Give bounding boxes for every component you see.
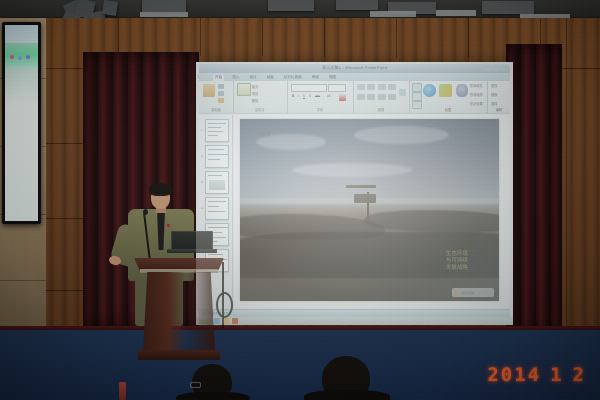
- powerpoint-window[interactable]: 演示文稿1 - Microsoft PowerPoint 开始 插入 设计 动画…: [196, 62, 513, 325]
- delete-label[interactable]: 删除: [252, 98, 258, 103]
- slide-title: 导言: [261, 132, 272, 139]
- ribbon-group-label: 编辑: [487, 108, 511, 113]
- thumbnail-line: [208, 149, 224, 150]
- ribbon-group-editing[interactable]: 查找 替换 选择 编辑: [487, 81, 511, 113]
- font-size-box[interactable]: [328, 84, 346, 92]
- projection-screen: 演示文稿1 - Microsoft PowerPoint 开始 插入 设计 动画…: [196, 62, 513, 325]
- cut-icon[interactable]: [218, 84, 224, 89]
- thumbnail-line: [208, 175, 222, 176]
- current-slide[interactable]: 导言 生态环境 与可持续 发展战略 视频 播放: [240, 119, 499, 301]
- cloud-shape: [354, 126, 449, 144]
- wall-seam: [566, 18, 567, 348]
- status-bar: 幻灯片 第 3 张,共 6 张: [199, 309, 510, 317]
- arrange-icon[interactable]: [423, 84, 436, 97]
- slide-editing-area[interactable]: 导言 生态环境 与可持续 发展战略 视频 播放: [234, 115, 509, 309]
- water-bottle: [119, 382, 126, 400]
- shape-outline-label[interactable]: 形状轮廓: [470, 92, 483, 97]
- align-left-icon[interactable]: [357, 94, 365, 100]
- character-spacing-icon[interactable]: AV: [327, 94, 331, 98]
- podium-base: [138, 350, 220, 360]
- format-painter-icon[interactable]: [218, 98, 224, 103]
- thumbnail-line: [208, 254, 223, 255]
- strikethrough-icon[interactable]: abc: [315, 94, 320, 98]
- shape-effects-icon[interactable]: [456, 84, 468, 97]
- select-label[interactable]: 选择: [491, 101, 497, 106]
- slide-thumbnail[interactable]: 3: [205, 171, 229, 194]
- timestamp-day: 2: [573, 364, 586, 386]
- paste-icon[interactable]: [203, 84, 215, 97]
- copy-icon[interactable]: [218, 91, 224, 96]
- thumbnail-line: [208, 211, 225, 212]
- slide-caption: 生态环境 与可持续 发展战略: [446, 251, 468, 272]
- tab-design[interactable]: 设计: [247, 74, 258, 81]
- audience-shoulders: [176, 392, 250, 400]
- layout-label[interactable]: 版式: [252, 84, 258, 89]
- thumbnail-line: [208, 131, 223, 132]
- secondary-monitor-screen: [5, 25, 38, 221]
- glasses-icon: [152, 194, 169, 198]
- wall-seam: [324, 18, 325, 58]
- wall-seam: [200, 18, 201, 56]
- tab-animations[interactable]: 动画: [265, 74, 276, 81]
- ribbon-group-label: 幻灯片: [233, 108, 287, 113]
- numbering-icon[interactable]: [367, 84, 375, 90]
- signpost-board: [354, 194, 376, 203]
- thumbnail-line: [208, 135, 218, 136]
- wall-seam: [468, 18, 469, 58]
- podium-body: [143, 272, 215, 352]
- lapel-pin-icon: [167, 224, 170, 227]
- bullets-icon[interactable]: [357, 84, 365, 90]
- align-center-icon[interactable]: [367, 94, 375, 100]
- glasses-icon: [190, 382, 201, 388]
- thumbnail-line: [208, 127, 221, 128]
- windows-taskbar[interactable]: [196, 317, 513, 325]
- audience-shoulders: [304, 390, 390, 400]
- timestamp-year: 2014: [487, 364, 541, 386]
- new-slide-icon[interactable]: [237, 83, 251, 96]
- ribbon-group-label: 字体: [287, 108, 353, 113]
- align-justify-icon[interactable]: [388, 94, 396, 100]
- ceiling-panel: [336, 0, 378, 10]
- timestamp-month: 1: [550, 364, 563, 386]
- tab-view[interactable]: 视图: [327, 74, 338, 81]
- ribbon-group-label: 剪贴板: [199, 108, 233, 113]
- stone-seam: [0, 280, 46, 281]
- font-color-icon[interactable]: [339, 94, 346, 101]
- window-title-text: 演示文稿1 - Microsoft PowerPoint: [199, 65, 510, 71]
- tab-insert[interactable]: 插入: [230, 74, 241, 81]
- underline-icon[interactable]: U: [303, 94, 305, 98]
- slide-thumbnail[interactable]: 4: [205, 197, 229, 220]
- tab-slideshow[interactable]: 幻灯片放映: [282, 74, 304, 81]
- ribbon-tabs[interactable]: 开始 插入 设计 动画 幻灯片放映 审阅 视图: [199, 73, 510, 81]
- shape-effects-label[interactable]: 形状效果: [470, 101, 483, 106]
- text-direction-icon[interactable]: [399, 89, 406, 96]
- thumbnail-image: [209, 180, 225, 190]
- ribbon-group-font[interactable]: B I U S abc AV 字体: [287, 81, 354, 113]
- ribbon-group-label: 绘图: [409, 108, 487, 113]
- hanging-panel: [102, 0, 118, 16]
- slide-media-badge[interactable]: 视频 播放: [452, 288, 494, 297]
- window-title-bar: 演示文稿1 - Microsoft PowerPoint: [199, 64, 510, 73]
- find-label[interactable]: 查找: [491, 83, 497, 88]
- thumbnail-line: [208, 123, 226, 124]
- ceiling-light: [436, 10, 476, 16]
- wall-seam: [396, 18, 397, 58]
- thumbnail-line: [208, 154, 228, 155]
- shadow-icon[interactable]: S: [309, 94, 311, 98]
- thumbnail-number: 4: [201, 206, 203, 210]
- ribbon[interactable]: 剪贴板 版式 重设 删除 幻灯片 B I U S abc: [199, 81, 510, 114]
- tab-review[interactable]: 审阅: [310, 74, 321, 81]
- thumbnail-line: [208, 201, 226, 202]
- thumbnail-line: [208, 227, 228, 228]
- ceiling-panel: [142, 0, 186, 12]
- thumbnail-number: 1: [201, 128, 203, 132]
- ie-icon[interactable]: [214, 318, 220, 324]
- cable-coil: [216, 292, 233, 318]
- media-badge-label: 视频 播放: [461, 291, 474, 295]
- italic-icon[interactable]: I: [298, 94, 299, 98]
- thumbnail-line: [208, 206, 219, 207]
- laptop-base[interactable]: [167, 249, 217, 253]
- ribbon-group-drawing[interactable]: 形状填充 形状轮廓 形状效果 绘图: [409, 81, 488, 113]
- signpost-crossbar: [346, 185, 376, 188]
- thumbnail-line: [208, 159, 220, 160]
- thumbnail-number: 2: [201, 154, 203, 158]
- photo-scene: 演示文稿1 - Microsoft PowerPoint 开始 插入 设计 动画…: [0, 0, 600, 400]
- monitor-ui-dot: [26, 55, 30, 59]
- minimize-icon[interactable]: [484, 66, 490, 71]
- tab-home[interactable]: 开始: [213, 74, 224, 81]
- stage-curtain-right: [506, 44, 562, 334]
- ceiling-light: [140, 12, 188, 17]
- laptop-screen[interactable]: [171, 231, 213, 251]
- thumbnail-number: 3: [201, 180, 203, 184]
- align-right-icon[interactable]: [378, 94, 386, 100]
- window-buttons[interactable]: [484, 66, 506, 71]
- secondary-monitor[interactable]: [2, 22, 41, 224]
- shape-fill-label[interactable]: 形状填充: [470, 83, 483, 88]
- monitor-ui-dot: [10, 55, 14, 59]
- ceiling-panel: [482, 1, 534, 14]
- font-name-box[interactable]: [291, 84, 327, 92]
- shapes-gallery-icon[interactable]: [412, 92, 422, 101]
- bold-icon[interactable]: B: [292, 94, 294, 98]
- reset-label[interactable]: 重设: [252, 91, 258, 96]
- replace-label[interactable]: 替换: [491, 92, 497, 97]
- slide-photo: 导言 生态环境 与可持续 发展战略: [240, 119, 499, 301]
- indent-decrease-icon[interactable]: [378, 84, 386, 90]
- powerpoint-icon[interactable]: [232, 318, 238, 324]
- close-icon[interactable]: [500, 66, 506, 71]
- ribbon-group-clipboard[interactable]: 剪贴板: [199, 81, 234, 113]
- media-dot-icon: [455, 291, 459, 295]
- ceiling-panel: [268, 0, 314, 11]
- ribbon-group-slides[interactable]: 版式 重设 删除 幻灯片: [233, 81, 288, 113]
- quick-styles-icon[interactable]: [439, 84, 452, 97]
- ceiling-light: [370, 11, 416, 17]
- restore-icon[interactable]: [492, 66, 498, 71]
- slide-thumbnail[interactable]: 1: [205, 119, 229, 142]
- microphone-icon: [143, 209, 148, 215]
- ribbon-group-paragraph[interactable]: 段落: [353, 81, 410, 113]
- ribbon-group-label: 段落: [353, 108, 409, 113]
- camera-timestamp: 201412: [487, 364, 586, 386]
- monitor-ui-dot: [18, 56, 22, 60]
- indent-increase-icon[interactable]: [388, 84, 396, 90]
- shapes-gallery-icon[interactable]: [412, 83, 422, 92]
- wall-seam: [262, 18, 263, 56]
- cloud-shape: [292, 163, 412, 177]
- slide-thumbnail[interactable]: 2: [205, 145, 229, 168]
